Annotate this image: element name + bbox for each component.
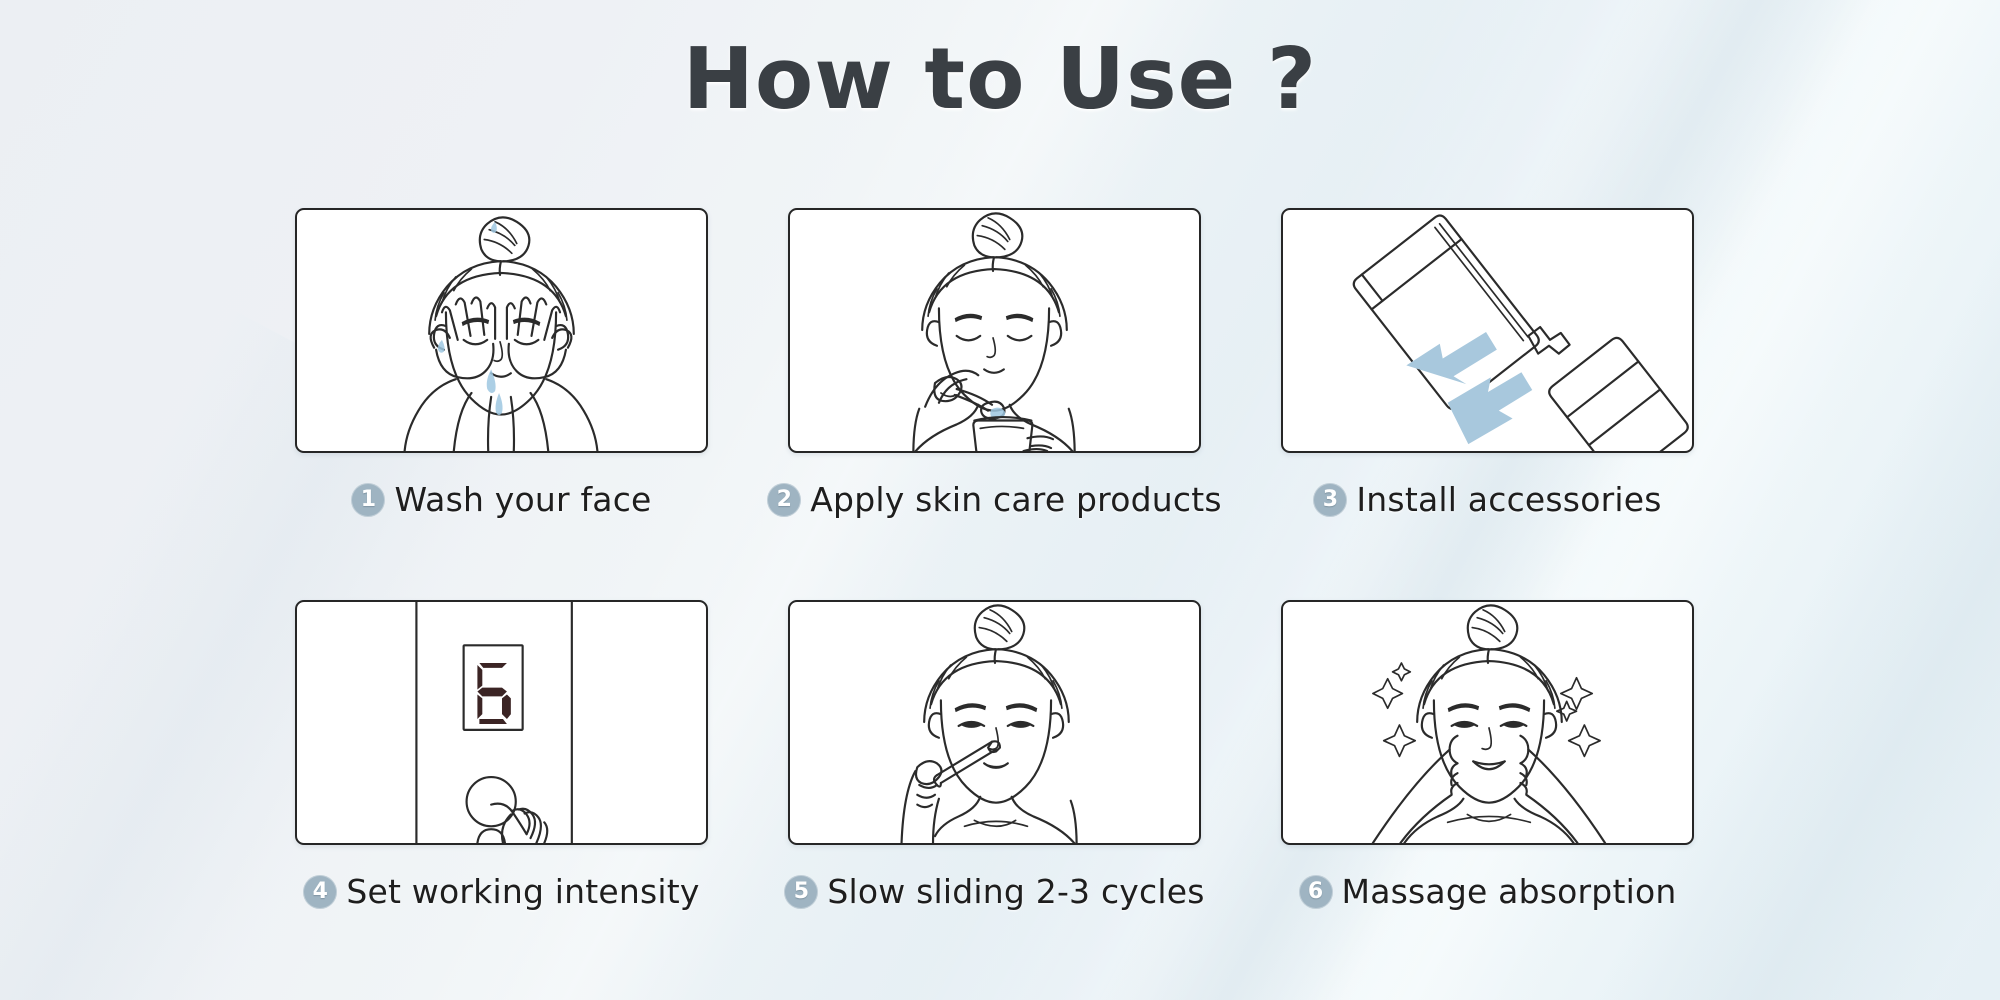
step-6-caption: 6 Massage absorption: [1281, 872, 1694, 911]
seven-segment-digit: [477, 663, 510, 724]
woman-applying-cream-icon: [790, 210, 1199, 451]
step-6-number-badge: 6: [1299, 875, 1333, 909]
step-4-caption: 4 Set working intensity: [295, 872, 708, 911]
step-2: 2 Apply skin care products: [788, 208, 1201, 600]
step-6: 6 Massage absorption: [1281, 600, 1694, 992]
step-1-illustration-card: [295, 208, 708, 453]
step-4-caption-text: Set working intensity: [346, 872, 699, 911]
page-title: How to Use ?: [0, 30, 2000, 129]
step-4: 4 Set working intensity: [295, 600, 708, 992]
woman-washing-face-icon: [297, 210, 706, 451]
step-4-illustration-card: [295, 600, 708, 845]
device-attach-head-icon: [1283, 210, 1692, 451]
step-6-illustration-card: [1281, 600, 1694, 845]
step-2-caption: 2 Apply skin care products: [788, 480, 1201, 519]
step-5-illustration-card: [788, 600, 1201, 845]
step-2-number-badge: 2: [767, 483, 801, 517]
step-3-illustration-card: [1281, 208, 1694, 453]
step-2-illustration-card: [788, 208, 1201, 453]
woman-massaging-face-icon: [1283, 602, 1692, 843]
step-2-caption-text: Apply skin care products: [810, 480, 1221, 519]
step-3-caption: 3 Install accessories: [1281, 480, 1694, 519]
step-1: 1 Wash your face: [295, 208, 708, 600]
step-1-caption-text: Wash your face: [394, 480, 651, 519]
step-5-number-badge: 5: [784, 875, 818, 909]
step-6-caption-text: Massage absorption: [1342, 872, 1677, 911]
step-3: 3 Install accessories: [1281, 208, 1694, 600]
device-display-button-icon: [297, 602, 706, 843]
how-to-use-infographic: How to Use ?: [0, 0, 2000, 1000]
woman-sliding-device-icon: [790, 602, 1199, 843]
step-5-caption: 5 Slow sliding 2-3 cycles: [788, 872, 1201, 911]
step-1-number-badge: 1: [351, 483, 385, 517]
step-5-caption-text: Slow sliding 2-3 cycles: [827, 872, 1204, 911]
step-3-number-badge: 3: [1313, 483, 1347, 517]
step-1-caption: 1 Wash your face: [295, 480, 708, 519]
step-5: 5 Slow sliding 2-3 cycles: [788, 600, 1201, 992]
steps-grid: 1 Wash your face: [295, 208, 1715, 992]
step-4-number-badge: 4: [303, 875, 337, 909]
step-3-caption-text: Install accessories: [1356, 480, 1661, 519]
